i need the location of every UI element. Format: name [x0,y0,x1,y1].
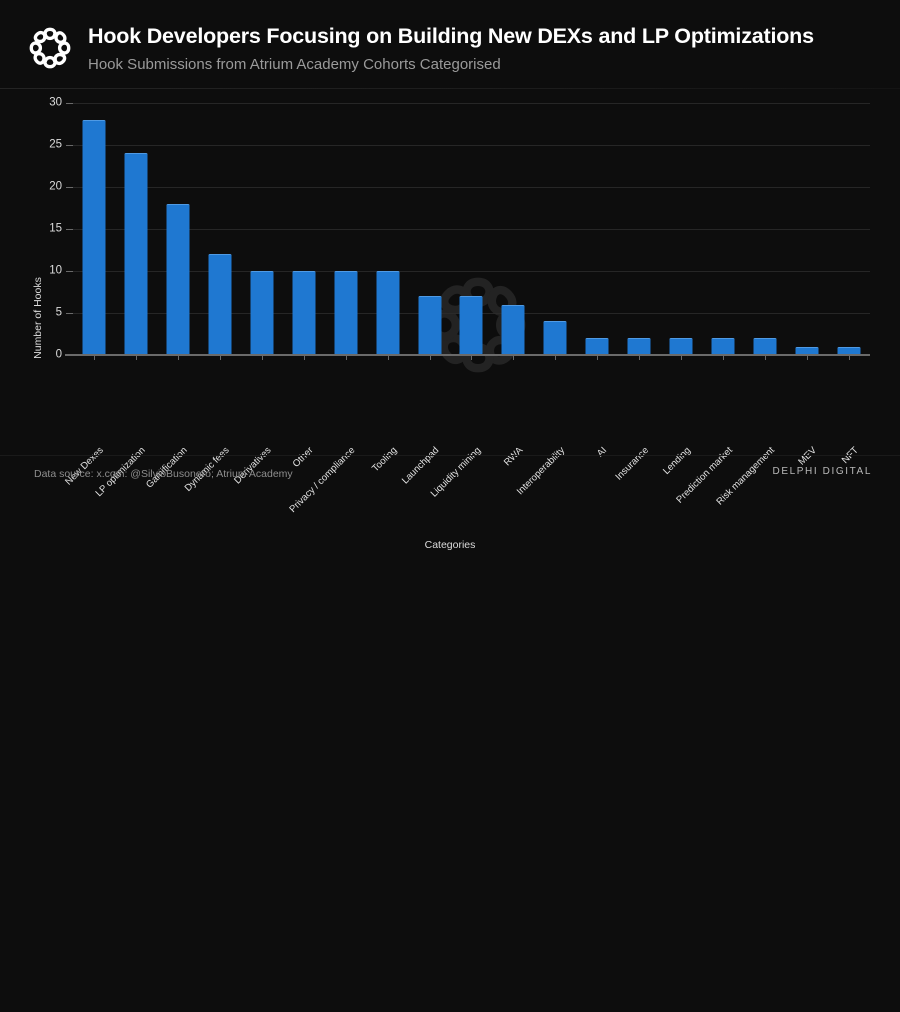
bar-slot [618,103,660,355]
bar-slot [73,103,115,355]
y-tick-label: 5 [56,307,62,319]
y-tick-mark [66,187,73,188]
x-axis-tick-labels: New DexesLP optimizationGamificationDyna… [0,445,900,541]
y-tick-mark [66,103,73,104]
bar-slot [786,103,828,355]
y-tick-label: 20 [49,181,62,193]
chart-container: Number of Hooks 051015202530 New [0,89,900,459]
y-tick-mark [66,313,73,314]
bar[interactable] [292,271,315,355]
bar-slot [325,103,367,355]
bar-slot [283,103,325,355]
bar-series [73,103,870,355]
x-axis-line [65,354,870,356]
bar-slot [744,103,786,355]
bar[interactable] [628,338,651,355]
bar[interactable] [544,321,567,355]
bar-slot [241,103,283,355]
bar[interactable] [754,338,777,355]
bar[interactable] [250,271,273,355]
x-tick-label: Tooling [115,445,400,730]
bar-slot [576,103,618,355]
bar[interactable] [82,120,105,355]
bar[interactable] [586,338,609,355]
bar-slot [157,103,199,355]
bar-slot [451,103,493,355]
bar-slot [199,103,241,355]
bar-slot [409,103,451,355]
y-axis-title: Number of Hooks [30,192,46,444]
y-tick-label: 15 [49,223,62,235]
bar[interactable] [460,296,483,355]
bar[interactable] [334,271,357,355]
header: Hook Developers Focusing on Building New… [0,0,900,88]
footer-divider [0,455,900,456]
bar-slot [367,103,409,355]
y-tick-label: 30 [49,97,62,109]
bar[interactable] [418,296,441,355]
bar[interactable] [712,338,735,355]
bar[interactable] [124,153,147,355]
y-tick-mark [66,229,73,230]
x-tick-label: Interoperability [164,445,567,848]
bar[interactable] [208,254,231,355]
bar-slot [702,103,744,355]
y-tick-label: 10 [49,265,62,277]
x-axis-title: Categories [0,539,900,551]
bar-slot [492,103,534,355]
bar[interactable] [376,271,399,355]
bar-slot [660,103,702,355]
delphi-knot-logo-icon [24,22,76,74]
chart-page: Hook Developers Focusing on Building New… [0,0,900,506]
bar[interactable] [166,204,189,355]
page-subtitle: Hook Submissions from Atrium Academy Coh… [88,54,890,76]
bar-slot [828,103,870,355]
data-source-note: Data source: x.com: @SilvioBusonero; Atr… [34,468,293,480]
header-text-block: Hook Developers Focusing on Building New… [88,22,890,76]
y-tick-label: 0 [56,349,62,361]
bar-slot [115,103,157,355]
x-tick-label: New Dexes [29,445,106,522]
x-tick-label: Prediction market [213,445,735,967]
plot-area: 051015202530 [73,103,870,355]
y-tick-mark [66,271,73,272]
x-tick-label: Launchpad [127,445,441,759]
brand-wordmark: DELPHI DIGITAL [773,466,872,477]
bar-slot [534,103,576,355]
bar[interactable] [670,338,693,355]
bar[interactable] [502,305,525,355]
y-tick-label: 25 [49,139,62,151]
y-tick-mark [66,145,73,146]
page-title: Hook Developers Focusing on Building New… [88,22,890,50]
